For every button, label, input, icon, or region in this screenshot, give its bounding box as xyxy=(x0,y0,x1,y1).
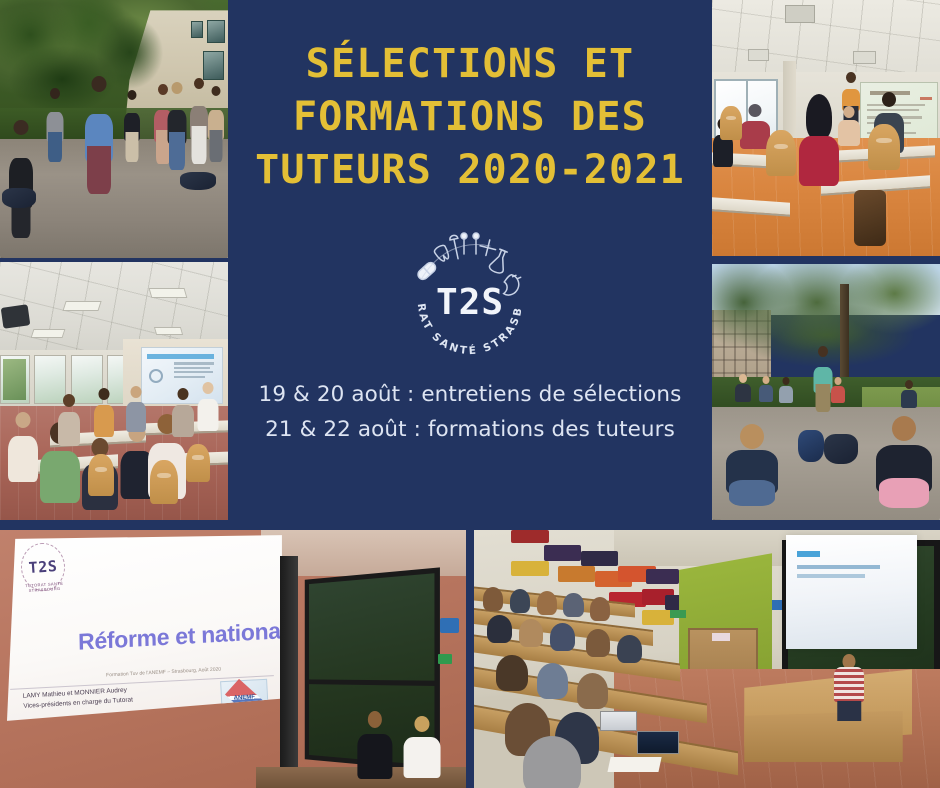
t2s-logo: T2S TUTORAT SANTÉ STRASBOURG xyxy=(400,228,540,370)
ceiling-light xyxy=(149,288,188,298)
window xyxy=(191,21,203,38)
slide-logo xyxy=(149,369,163,383)
torso xyxy=(831,386,845,403)
head xyxy=(846,72,856,83)
chair xyxy=(88,454,114,496)
photo-classroom-presentation xyxy=(712,0,940,256)
torso xyxy=(901,390,917,408)
ceiling-vent xyxy=(853,51,876,64)
head xyxy=(50,88,60,99)
legs xyxy=(210,130,223,162)
person-standing xyxy=(44,88,66,162)
head xyxy=(905,380,913,389)
slide-text-line xyxy=(797,574,865,579)
chair xyxy=(150,460,178,504)
head xyxy=(740,424,764,449)
event-date-line-2: 21 & 22 août : formations des tuteurs xyxy=(228,413,712,448)
ceiling-vent xyxy=(785,5,815,23)
pillar xyxy=(280,556,299,773)
ceiling-light xyxy=(62,301,102,311)
photo-slide-reforme-et-national: T2S TUTORAT SANTÉ STRASBOURG Réforme et … xyxy=(0,530,466,788)
legs xyxy=(837,701,860,721)
ceiling-light xyxy=(30,329,65,338)
head xyxy=(212,86,221,96)
chair xyxy=(766,130,796,176)
person-seated xyxy=(758,376,774,404)
person-standing xyxy=(165,82,189,170)
student xyxy=(586,629,611,657)
slide-text-line xyxy=(174,367,209,369)
slide-text-line xyxy=(174,376,204,378)
acoustic-panel xyxy=(511,530,548,543)
projection-screen xyxy=(786,535,916,649)
backpack xyxy=(2,188,36,208)
person-seated xyxy=(92,388,116,440)
acoustic-panel xyxy=(646,569,679,584)
head xyxy=(203,382,214,394)
title-line-1: Sélections et xyxy=(228,38,712,91)
student xyxy=(519,619,544,647)
projected-slide: T2S TUTORAT SANTÉ STRASBOURG Réforme et … xyxy=(7,535,282,721)
torso xyxy=(759,385,773,402)
head xyxy=(414,716,429,732)
student xyxy=(537,663,568,699)
poster-canvas: T2S TUTORAT SANTÉ STRASBOURG Réforme et … xyxy=(0,0,940,788)
student xyxy=(487,615,512,643)
torso xyxy=(358,734,393,779)
student xyxy=(483,587,503,611)
head xyxy=(882,92,896,107)
student xyxy=(617,635,642,663)
person-seated-foreground xyxy=(874,416,934,508)
torso xyxy=(198,399,219,431)
slide-t2s-logo: T2S TUTORAT SANTÉ STRASBOURG xyxy=(19,541,66,592)
legs xyxy=(87,146,111,194)
backpack xyxy=(798,430,824,462)
backpack xyxy=(824,434,858,464)
acoustic-panel xyxy=(558,566,595,581)
student xyxy=(537,591,557,615)
torso xyxy=(172,405,194,437)
chalkboard-divider xyxy=(309,680,434,687)
head xyxy=(368,711,382,728)
legs xyxy=(879,478,929,508)
torso xyxy=(58,412,80,446)
torso xyxy=(403,737,440,777)
slide-text-line xyxy=(174,371,212,373)
ceiling-vent xyxy=(748,49,769,62)
slide-header-bar xyxy=(147,354,214,359)
student xyxy=(577,673,608,709)
chair xyxy=(868,124,900,170)
legs xyxy=(729,480,775,506)
person-presenter-male xyxy=(354,711,396,788)
head xyxy=(806,94,832,140)
torso xyxy=(126,402,146,432)
photo-classroom-audience xyxy=(0,262,228,520)
head xyxy=(99,388,110,400)
ceiling-tiles xyxy=(712,0,940,82)
person-seated xyxy=(836,106,862,150)
person-seated xyxy=(56,394,82,450)
person-standing xyxy=(122,90,142,162)
torso xyxy=(94,405,114,437)
person-presenter-female xyxy=(401,716,443,788)
torso xyxy=(799,136,839,186)
laptop xyxy=(600,711,637,732)
torso xyxy=(735,384,751,402)
student xyxy=(510,589,530,613)
photo-outdoor-group-seated xyxy=(712,264,940,520)
slide-title-bar xyxy=(797,551,820,557)
head xyxy=(172,82,183,94)
slide-text-line xyxy=(797,565,881,570)
torso xyxy=(8,436,38,482)
chair xyxy=(186,444,210,482)
ceiling-light xyxy=(154,327,184,335)
backpack xyxy=(180,172,216,190)
chair xyxy=(720,106,742,140)
legs xyxy=(169,132,185,170)
event-dates: 19 & 20 août : entretiens de sélections … xyxy=(228,378,712,448)
slide-subtitle: Formation Tuv de l'ANEMF – Strasbourg, A… xyxy=(106,665,238,678)
torso xyxy=(40,451,80,503)
slide-text-line xyxy=(174,362,214,364)
photo-outdoor-courtyard-briefing xyxy=(0,0,228,258)
title-line-3: tuteurs 2020-2021 xyxy=(228,144,712,197)
legs xyxy=(48,132,62,162)
head xyxy=(63,394,75,407)
person-seated xyxy=(734,374,752,404)
laptop xyxy=(637,731,679,754)
legs xyxy=(192,126,207,164)
centre-text-panel: Sélections et formations des tuteurs 202… xyxy=(228,0,712,530)
student xyxy=(496,655,527,691)
person-seated xyxy=(6,412,40,486)
slide-title: Réforme et national xyxy=(78,620,249,657)
projector xyxy=(1,304,31,328)
page-title: Sélections et formations des tuteurs 202… xyxy=(228,38,712,198)
head xyxy=(892,416,916,441)
head xyxy=(92,76,107,92)
person-seated xyxy=(170,388,196,442)
svg-text:T2S: T2S xyxy=(436,282,504,323)
person-standing xyxy=(82,76,116,194)
seating-tiers xyxy=(474,587,698,788)
paper xyxy=(607,757,662,772)
head xyxy=(818,346,828,357)
acoustic-panel xyxy=(581,551,618,566)
head xyxy=(739,374,747,383)
window xyxy=(203,51,224,81)
head xyxy=(763,376,770,384)
window xyxy=(0,355,30,404)
person-seated xyxy=(900,380,918,410)
acoustic-panel xyxy=(511,561,548,576)
anemf-wordmark: ANEMF xyxy=(234,694,256,701)
head xyxy=(16,412,31,428)
person-lecturer xyxy=(833,654,866,721)
title-line-2: formations des xyxy=(228,91,712,144)
head xyxy=(14,120,29,135)
lecture-desk-front xyxy=(744,711,902,763)
event-date-line-1: 19 & 20 août : entretiens de sélections xyxy=(228,378,712,413)
person-seated xyxy=(778,377,794,405)
head xyxy=(194,78,204,89)
exit-sign xyxy=(438,654,452,664)
person-seated-foreground xyxy=(724,424,780,506)
person-presenter xyxy=(196,382,220,434)
student xyxy=(550,623,575,651)
person-seated xyxy=(798,94,840,186)
head xyxy=(749,104,762,117)
head xyxy=(844,106,855,118)
student xyxy=(563,593,583,617)
head xyxy=(783,377,790,385)
person-seated xyxy=(124,386,148,436)
person-seated xyxy=(830,377,846,405)
torso xyxy=(834,667,864,702)
suitcase xyxy=(854,190,886,246)
torso xyxy=(779,386,793,403)
wall-sign xyxy=(440,618,459,633)
head xyxy=(131,386,142,398)
photo-amphitheatre-lecture xyxy=(474,530,940,788)
person-standing xyxy=(206,86,226,162)
head xyxy=(128,90,137,100)
door-sign xyxy=(712,633,731,641)
head xyxy=(178,388,189,400)
person-standing xyxy=(6,120,36,238)
legs xyxy=(126,132,139,162)
torso xyxy=(838,120,860,146)
head xyxy=(835,377,842,385)
legs xyxy=(816,384,831,412)
acoustic-panel xyxy=(544,545,581,560)
student xyxy=(590,597,610,621)
window xyxy=(207,20,225,43)
slide-highlight xyxy=(920,97,932,100)
